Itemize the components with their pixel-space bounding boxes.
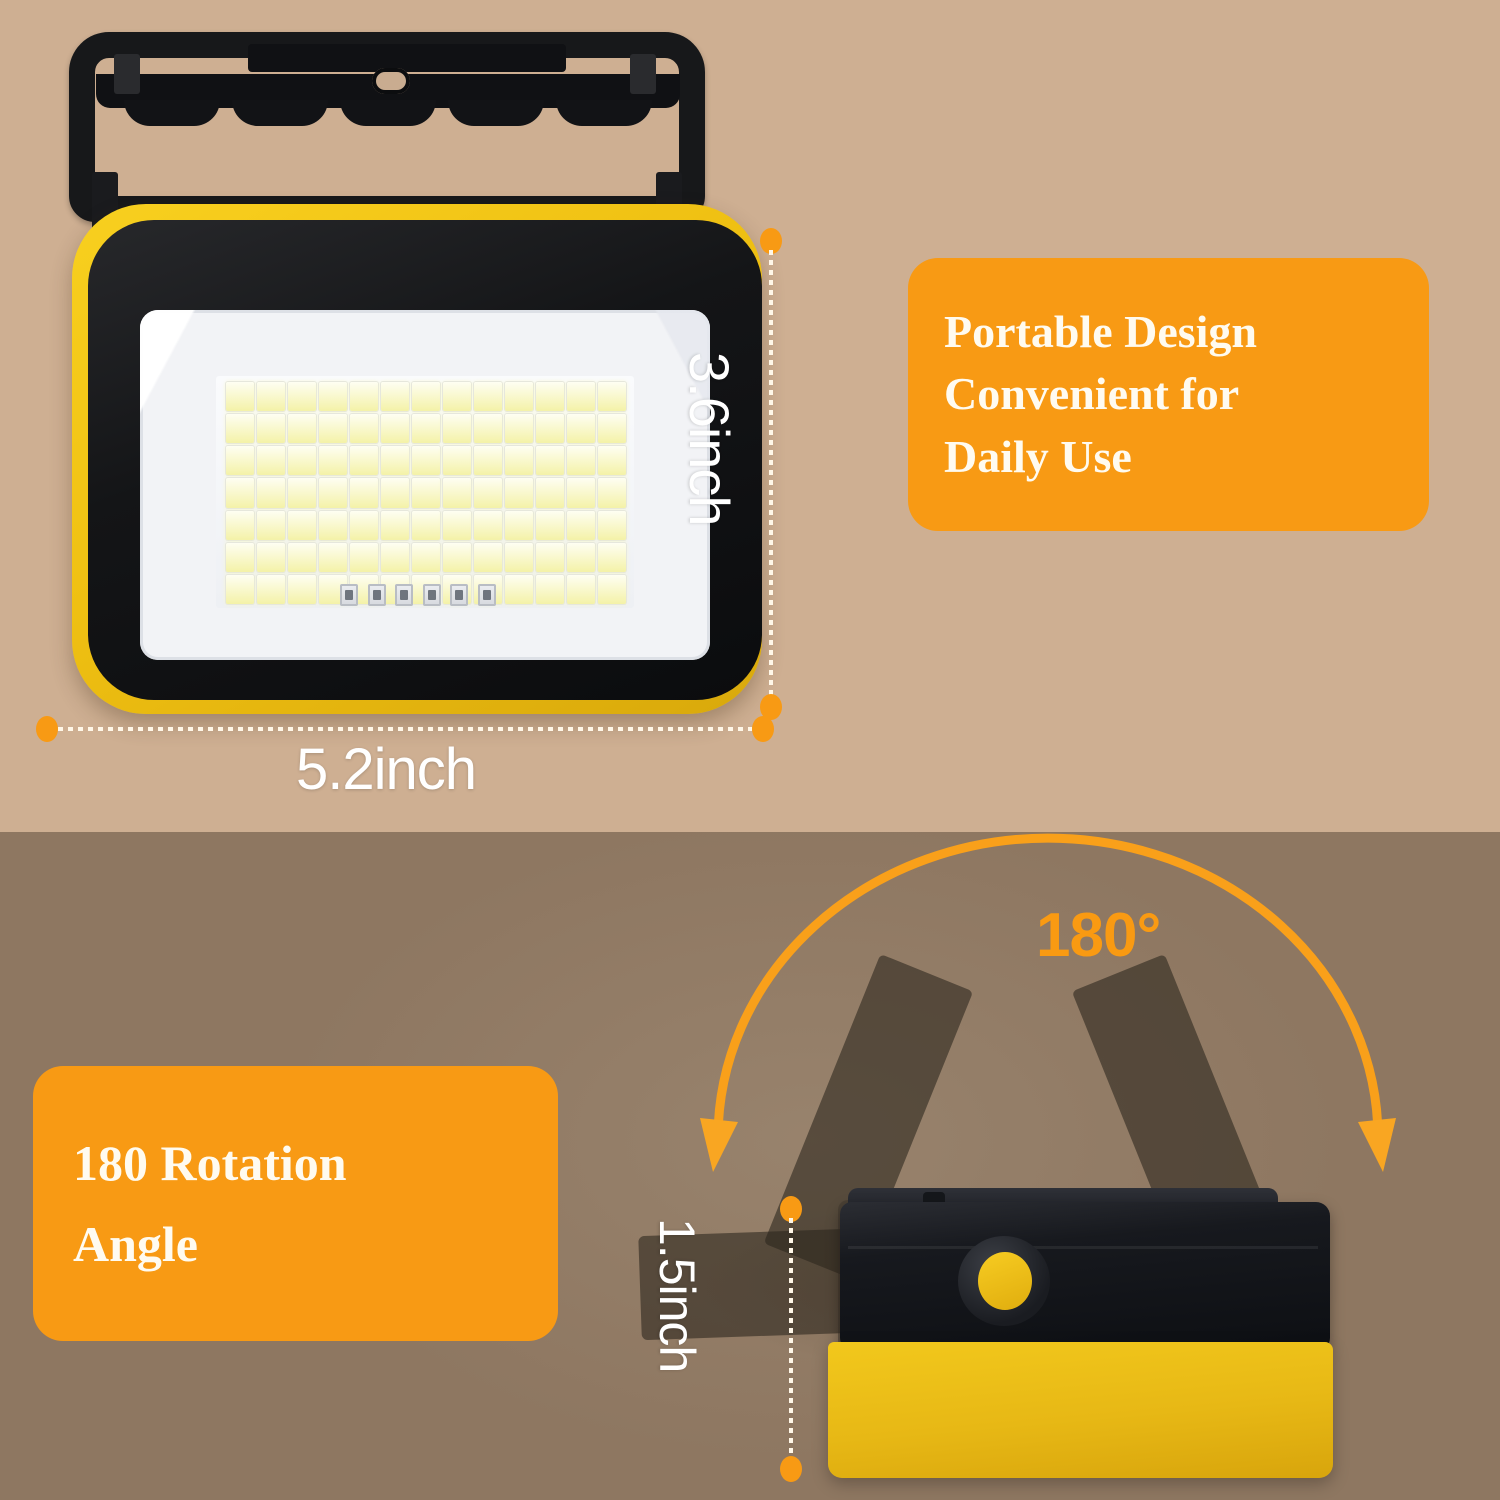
led-chip bbox=[598, 414, 626, 443]
rotation-knob[interactable] bbox=[978, 1252, 1032, 1310]
led-chip bbox=[412, 414, 440, 443]
grip-wave bbox=[340, 100, 436, 126]
led-chip bbox=[474, 543, 502, 572]
badge-line: Angle bbox=[73, 1204, 558, 1285]
led-chip bbox=[412, 511, 440, 540]
led-chip bbox=[505, 446, 533, 475]
lamp-yellow-base bbox=[828, 1342, 1333, 1478]
badge-line: Portable Design bbox=[944, 301, 1429, 364]
led-chip bbox=[319, 543, 347, 572]
dim-line-width bbox=[58, 727, 752, 731]
led-chip bbox=[474, 382, 502, 411]
led-chip bbox=[536, 382, 564, 411]
led-chip bbox=[288, 575, 316, 604]
indicator-chip bbox=[450, 584, 468, 606]
led-chip bbox=[226, 478, 254, 507]
led-chip bbox=[598, 575, 626, 604]
led-chip bbox=[257, 414, 285, 443]
led-chip bbox=[226, 511, 254, 540]
led-chip bbox=[288, 478, 316, 507]
led-chip bbox=[443, 543, 471, 572]
led-chip bbox=[288, 446, 316, 475]
indicator-chip bbox=[340, 584, 358, 606]
handle-top-bar bbox=[248, 44, 566, 72]
led-chip bbox=[288, 543, 316, 572]
dim-dot-width-right bbox=[752, 716, 774, 742]
handle-notch bbox=[114, 54, 140, 94]
dimension-label-depth: 1.5inch bbox=[648, 1218, 706, 1372]
led-chip bbox=[319, 511, 347, 540]
indicator-chip bbox=[423, 584, 441, 606]
led-chip bbox=[257, 446, 285, 475]
led-chip bbox=[474, 414, 502, 443]
led-chip bbox=[319, 446, 347, 475]
arrowhead-left-icon bbox=[700, 1118, 738, 1172]
indicator-chip bbox=[368, 584, 386, 606]
led-chip bbox=[412, 543, 440, 572]
dim-line-height bbox=[769, 250, 773, 698]
led-chip bbox=[319, 478, 347, 507]
badge-line: 180 Rotation bbox=[73, 1123, 558, 1204]
led-chip bbox=[381, 382, 409, 411]
led-grid bbox=[226, 382, 626, 604]
led-chip bbox=[443, 414, 471, 443]
led-chip bbox=[257, 575, 285, 604]
led-chip bbox=[505, 414, 533, 443]
grip-wave bbox=[232, 100, 328, 126]
arrowhead-right-icon bbox=[1358, 1118, 1396, 1172]
led-chip bbox=[443, 478, 471, 507]
led-chip bbox=[288, 414, 316, 443]
led-chip bbox=[536, 511, 564, 540]
led-chip bbox=[412, 382, 440, 411]
handle-notch bbox=[630, 54, 656, 94]
led-chip bbox=[567, 511, 595, 540]
led-chip bbox=[536, 414, 564, 443]
led-chip bbox=[505, 543, 533, 572]
top-panel: 3.6inch 5.2inch Portable Design Convenie… bbox=[0, 0, 1500, 832]
led-chip bbox=[474, 446, 502, 475]
led-chip bbox=[474, 478, 502, 507]
led-chip bbox=[288, 382, 316, 411]
led-chip bbox=[381, 446, 409, 475]
led-chip bbox=[567, 478, 595, 507]
led-chip bbox=[319, 382, 347, 411]
led-chip bbox=[536, 543, 564, 572]
led-chip bbox=[567, 414, 595, 443]
led-chip bbox=[505, 511, 533, 540]
led-chip bbox=[257, 543, 285, 572]
led-chip bbox=[412, 446, 440, 475]
led-chip bbox=[505, 575, 533, 604]
led-chip bbox=[350, 382, 378, 411]
led-chip bbox=[319, 414, 347, 443]
led-chip bbox=[536, 478, 564, 507]
led-chip bbox=[350, 543, 378, 572]
lamp-seam-line bbox=[848, 1246, 1318, 1249]
led-chip bbox=[443, 511, 471, 540]
badge-line: Convenient for bbox=[944, 363, 1429, 426]
badge-line: Daily Use bbox=[944, 426, 1429, 489]
led-chip bbox=[226, 414, 254, 443]
led-chip bbox=[412, 478, 440, 507]
indicator-chip bbox=[395, 584, 413, 606]
led-chip bbox=[567, 575, 595, 604]
led-chip bbox=[381, 478, 409, 507]
badge-rotation-angle: 180 Rotation Angle bbox=[33, 1066, 558, 1341]
lamp-body-side bbox=[840, 1202, 1330, 1350]
led-chip bbox=[598, 543, 626, 572]
led-chip bbox=[226, 575, 254, 604]
led-chip bbox=[505, 478, 533, 507]
portable-led-flood-light bbox=[36, 22, 756, 712]
led-chip bbox=[257, 511, 285, 540]
led-chip bbox=[257, 478, 285, 507]
led-chip bbox=[226, 446, 254, 475]
indicator-chip-row bbox=[340, 584, 496, 606]
led-chip bbox=[443, 446, 471, 475]
dim-line-depth bbox=[789, 1218, 793, 1460]
led-chip bbox=[288, 511, 316, 540]
arc-path bbox=[718, 838, 1378, 1138]
led-chip bbox=[598, 382, 626, 411]
arc-angle-label: 180° bbox=[1036, 900, 1160, 971]
led-chip bbox=[443, 382, 471, 411]
badge-portable-design: Portable Design Convenient for Daily Use bbox=[908, 258, 1429, 531]
led-chip bbox=[350, 414, 378, 443]
led-chip bbox=[598, 511, 626, 540]
led-chip bbox=[567, 446, 595, 475]
dimension-label-height: 3.6inch bbox=[677, 352, 742, 526]
led-chip bbox=[567, 543, 595, 572]
led-chip bbox=[350, 446, 378, 475]
led-chip bbox=[226, 543, 254, 572]
grip-wave bbox=[556, 100, 652, 126]
led-chip bbox=[350, 478, 378, 507]
hanging-hole bbox=[372, 68, 410, 94]
led-chip bbox=[536, 446, 564, 475]
led-chip bbox=[598, 446, 626, 475]
led-chip bbox=[257, 382, 285, 411]
led-chip bbox=[505, 382, 533, 411]
led-chip bbox=[381, 511, 409, 540]
grip-wave bbox=[448, 100, 544, 126]
dimension-label-width: 5.2inch bbox=[296, 736, 476, 803]
led-chip bbox=[598, 478, 626, 507]
indicator-chip bbox=[478, 584, 496, 606]
led-chip bbox=[350, 511, 378, 540]
led-chip bbox=[536, 575, 564, 604]
led-chip bbox=[381, 543, 409, 572]
infographic-stage: 3.6inch 5.2inch Portable Design Convenie… bbox=[0, 0, 1500, 1500]
grip-wave bbox=[124, 100, 220, 126]
led-chip bbox=[381, 414, 409, 443]
led-chip bbox=[567, 382, 595, 411]
led-chip bbox=[474, 511, 502, 540]
dim-dot-depth-bottom bbox=[780, 1456, 802, 1482]
dim-dot-width-left bbox=[36, 716, 58, 742]
led-chip bbox=[226, 382, 254, 411]
